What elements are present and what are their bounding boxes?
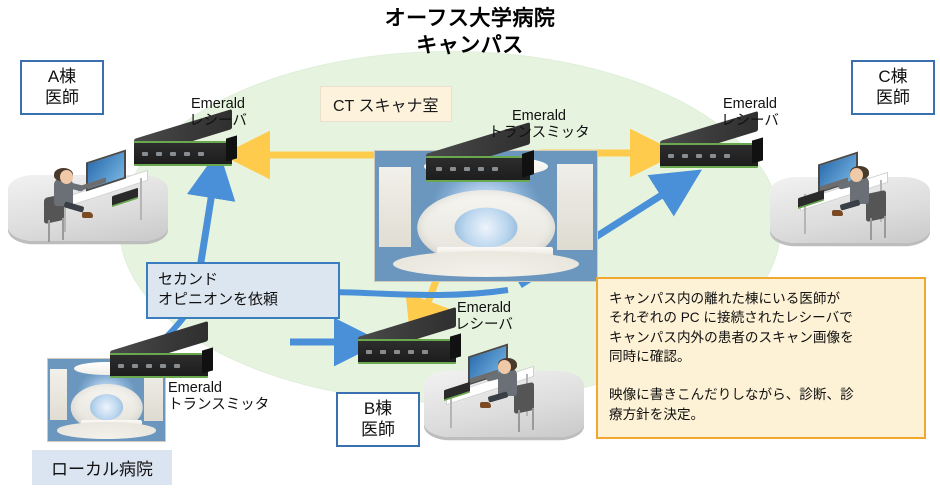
doctor-box-b: B棟 医師 (336, 392, 420, 447)
page-title-line1: オーフス大学病院 (300, 6, 640, 33)
chair (514, 382, 534, 414)
description-callout: キャンパス内の離れた棟にいる医師が それぞれの PC に接続されたレシーバで キ… (596, 277, 926, 439)
page-title: オーフス大学病院 キャンパス (300, 6, 640, 60)
chair (866, 190, 886, 222)
emerald-transmitter-campus (418, 138, 538, 184)
ct-floor (393, 251, 579, 277)
person-shoe (832, 210, 843, 216)
emerald-transmitter-campus-label: Emerald トランスミッタ (484, 108, 594, 143)
ct-floor (57, 422, 155, 438)
emerald-receiver-a-label: Emerald レシーバ (168, 96, 268, 131)
workstation-pod-c (770, 150, 930, 270)
second-opinion-callout: セカンド オピニオンを依頼 (146, 262, 340, 319)
person-shoe (82, 212, 93, 218)
emerald-transmitter-local-label: Emerald トランスミッタ (168, 380, 288, 415)
ct-bore (454, 207, 517, 248)
workstation-pod-a (8, 148, 168, 268)
ct-bore (90, 395, 123, 421)
local-hospital-label: ローカル病院 (32, 450, 172, 485)
page-title-line2: キャンパス (300, 33, 640, 60)
person-shoe (480, 402, 491, 408)
doctor-box-a: A棟 医師 (20, 60, 104, 115)
ct-scanner-room-label: CT スキャナ室 (320, 86, 452, 122)
ct-wall-left (50, 369, 66, 420)
emerald-transmitter-local (104, 336, 216, 380)
ct-wall-left (379, 167, 410, 248)
doctor-box-c: C棟 医師 (851, 60, 935, 115)
emerald-receiver-b-label: Emerald レシーバ (434, 300, 534, 335)
emerald-receiver-c-label: Emerald レシーバ (700, 96, 800, 131)
workstation-pod-b (424, 344, 584, 464)
emerald-receiver-c (654, 126, 766, 170)
ct-wall-right (557, 164, 593, 250)
diagram-canvas: オーフス大学病院 キャンパス CT スキャナ室 (0, 0, 940, 493)
